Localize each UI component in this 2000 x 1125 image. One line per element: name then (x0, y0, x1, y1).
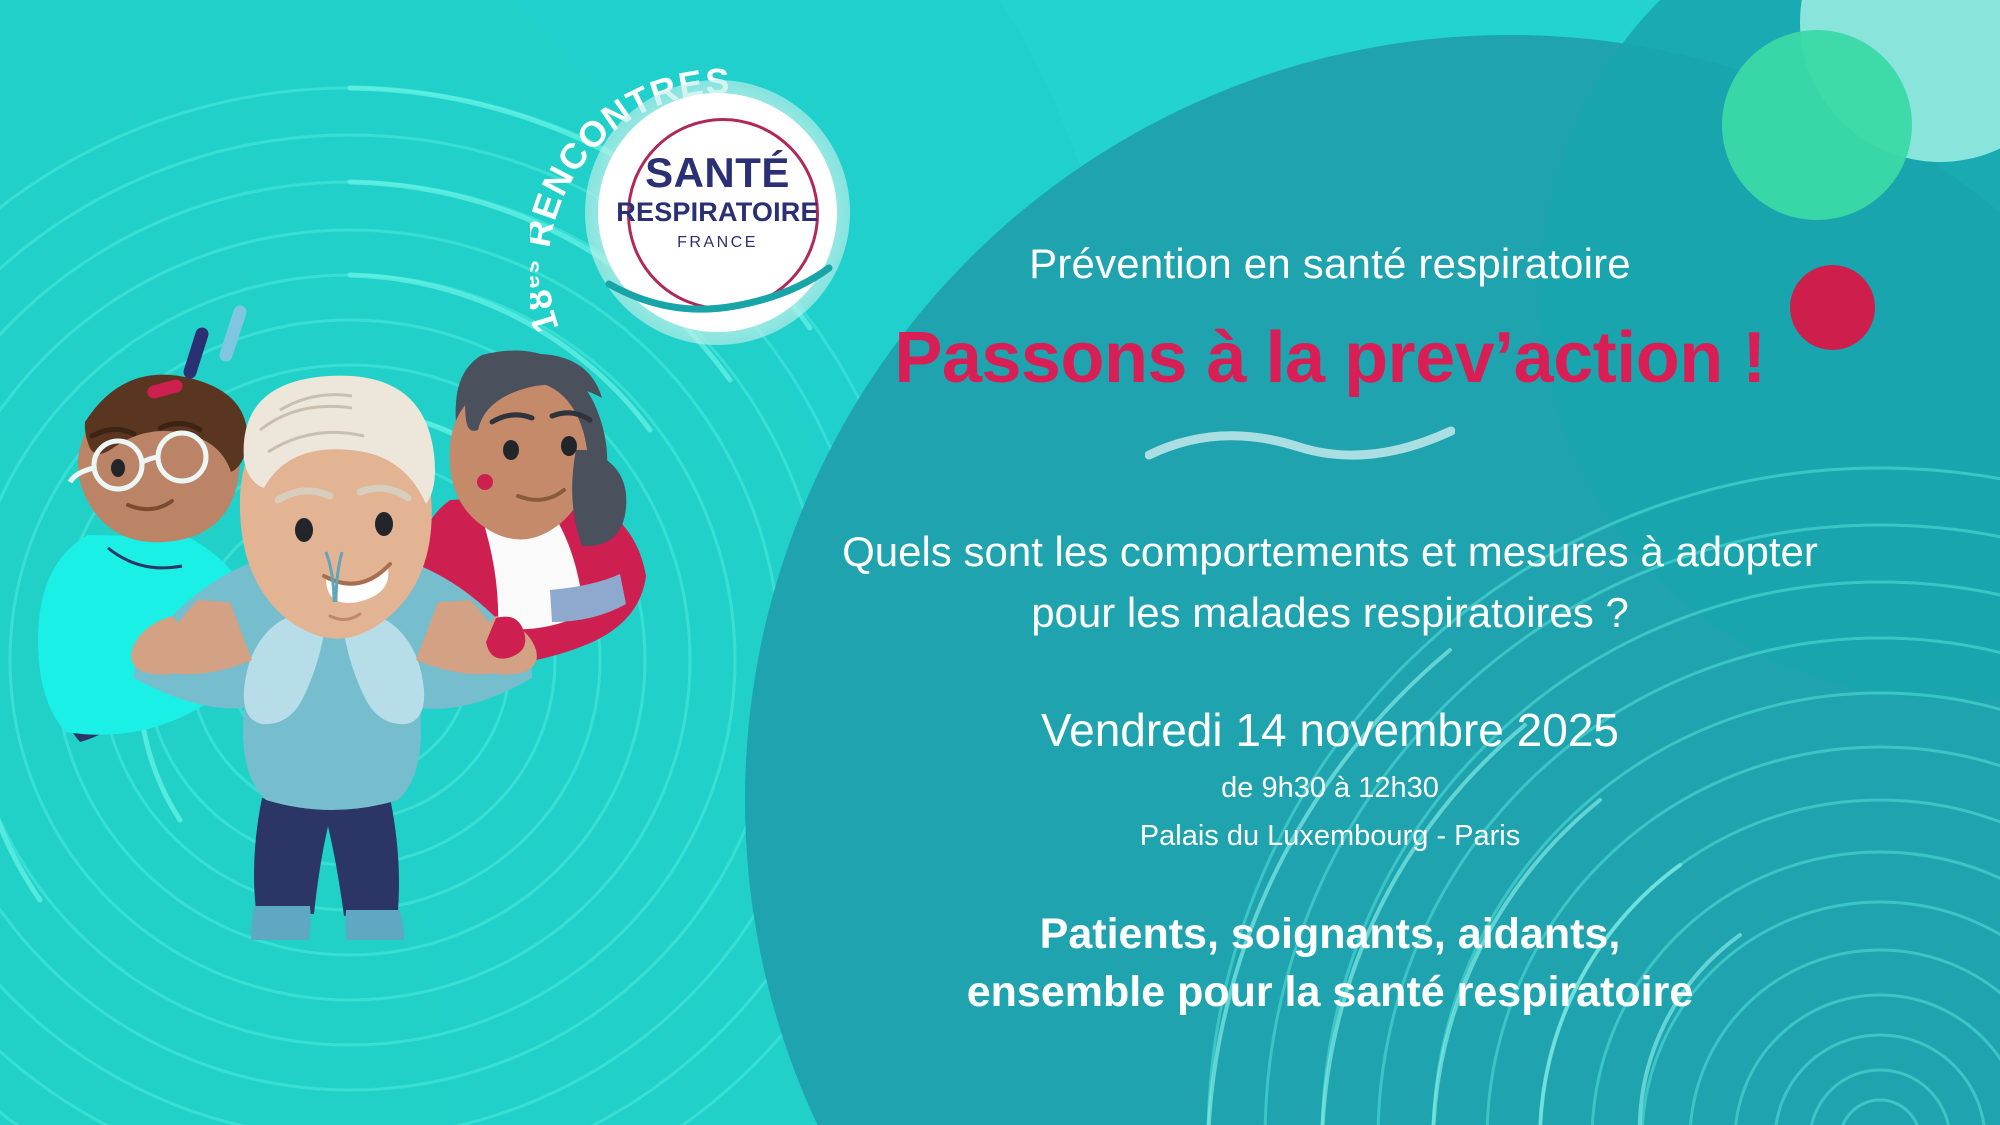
event-venue: Palais du Luxembourg - Paris (790, 820, 1870, 853)
content-block: Prévention en santé respiratoire Passons… (790, 0, 1870, 1125)
event-date: Vendredi 14 novembre 2025 (790, 703, 1870, 757)
wave-divider-icon (1145, 425, 1455, 465)
poster-canvas: 18es RENCONTRES SANTÉ RESPIRATOIRE FRANC… (0, 0, 2000, 1125)
kicker-text: Prévention en santé respiratoire (790, 240, 1870, 288)
question-text: Quels sont les comportements et mesures … (790, 522, 1870, 644)
logo-arc-number: 18 (530, 286, 567, 338)
headline-text: Passons à la prev’action ! (790, 317, 1870, 399)
tagline-line-1: Patients, soignants, aidants, (790, 905, 1870, 963)
tagline-line-2: ensemble pour la santé respiratoire (790, 963, 1870, 1021)
question-line-1: Quels sont les comportements et mesures … (790, 522, 1870, 583)
logo-arc-suffix: es (530, 259, 544, 289)
tagline-text: Patients, soignants, aidants, ensemble p… (790, 905, 1870, 1021)
event-time: de 9h30 à 12h30 (790, 772, 1870, 805)
question-line-2: pour les malades respiratoires ? (790, 583, 1870, 644)
